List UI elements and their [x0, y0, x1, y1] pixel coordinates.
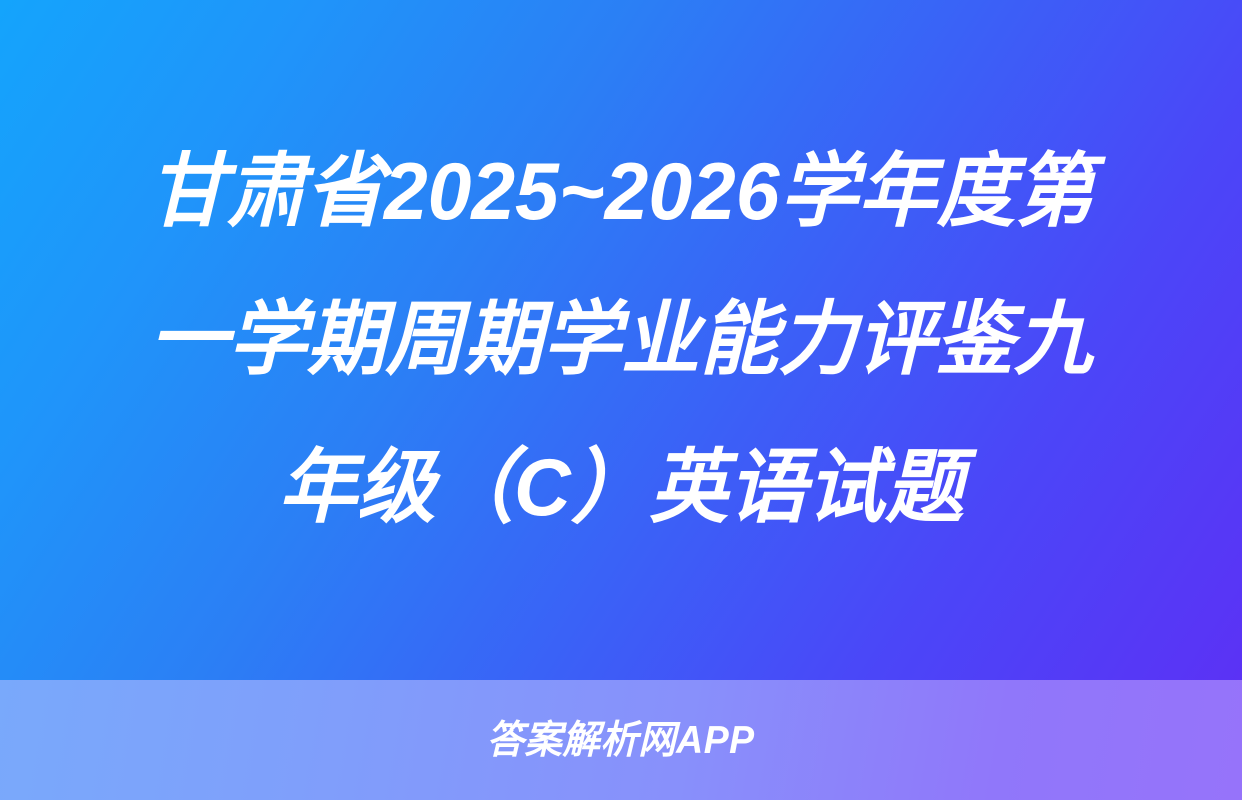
title-block: 甘肃省2025~2026学年度第一学期周期学业能力评鉴九年级（C）英语试题 — [0, 0, 1242, 680]
page-title: 甘肃省2025~2026学年度第一学期周期学业能力评鉴九年级（C）英语试题 — [115, 118, 1128, 562]
footer-brand-band: 答案解析网APP — [0, 680, 1242, 800]
exam-cover-poster: 甘肃省2025~2026学年度第一学期周期学业能力评鉴九年级（C）英语试题 答案… — [0, 0, 1242, 800]
brand-watermark-label: 答案解析网APP — [487, 721, 755, 760]
